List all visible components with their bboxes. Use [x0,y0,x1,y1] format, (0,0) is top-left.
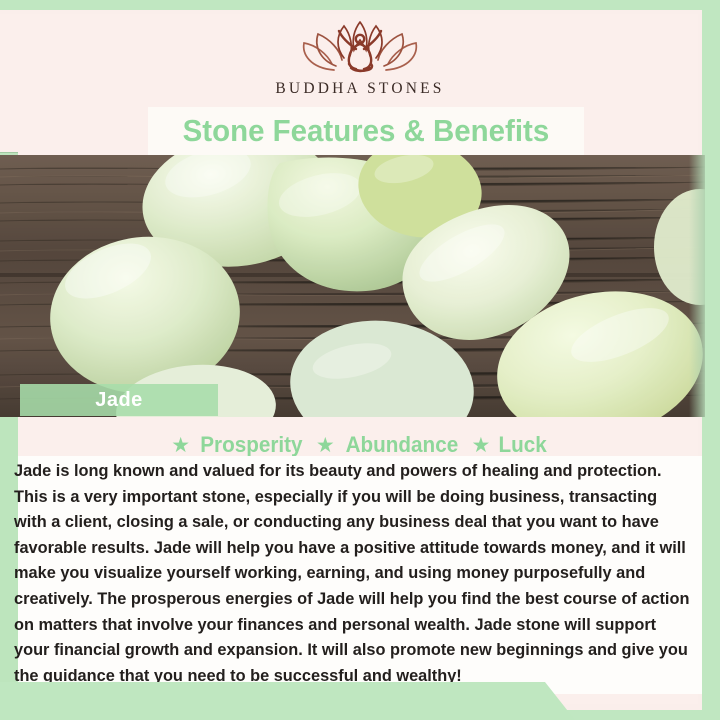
description-text: Jade is long known and valued for its be… [14,458,694,688]
keyword-label: Abundance [345,432,458,458]
stone-name-bar: Jade [20,384,218,416]
bottom-green-accent-band [0,682,575,720]
star-icon: ★ [472,435,491,456]
lotus-meditation-icon [294,14,426,78]
keyword-label: Prosperity [200,432,302,458]
stone-info-card: BUDDHA STONES Stone Features & Benefits [0,0,720,720]
brand-logo: BUDDHA STONES [0,14,720,110]
photo-right-fade [689,155,705,417]
keyword-prosperity: ★ Prosperity [171,432,306,458]
star-icon: ★ [316,435,335,456]
stone-name-label: Jade [95,389,143,412]
keyword-label: Luck [499,432,547,458]
stone-photo [0,155,705,417]
title-banner: Stone Features & Benefits [148,107,584,155]
page-title: Stone Features & Benefits [183,113,550,149]
stone-photo-illustration [0,155,705,417]
star-icon: ★ [171,435,190,456]
keyword-luck: ★ Luck [472,432,549,458]
keyword-abundance: ★ Abundance [316,432,462,458]
brand-name: BUDDHA STONES [275,80,444,98]
